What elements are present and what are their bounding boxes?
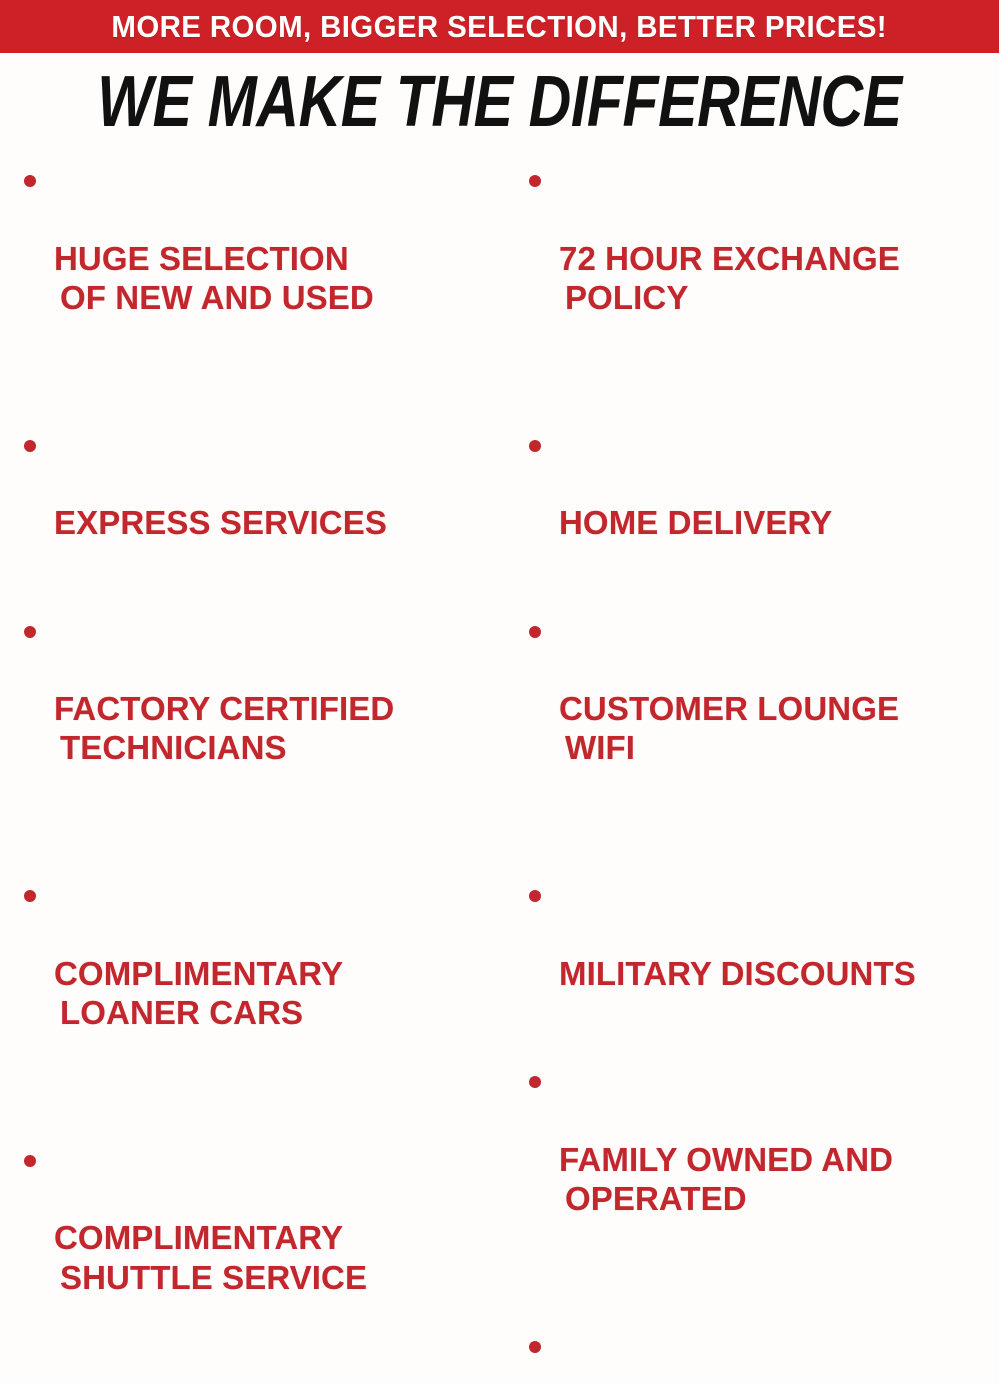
benefit-line-2: OPERATED xyxy=(559,1179,997,1218)
benefit-list-left: HUGE SELECTION OF NEW AND USED EXPRESS S… xyxy=(18,160,503,1375)
benefit-line-1: HOME DELIVERY xyxy=(559,504,832,541)
benefit-text: CUSTOMER LOUNGE WIFI xyxy=(559,650,997,807)
benefit-line-1: CUSTOMER LOUNGE xyxy=(559,690,899,727)
dealership-ad-banner: MORE ROOM, BIGGER SELECTION, BETTER PRIC… xyxy=(0,0,999,692)
benefit-line-1: COMPLIMENTARY xyxy=(54,955,343,992)
benefit-text: HOME DELIVERY xyxy=(559,464,997,543)
list-item: FAMILY OWNED AND OPERATED xyxy=(523,1061,997,1297)
benefit-text: FREE HISTORY REPORTS xyxy=(559,1365,997,1384)
benefit-text: MILITARY DISCOUNTS xyxy=(559,915,997,994)
benefit-line-2: SHUTTLE SERVICE xyxy=(54,1258,503,1297)
list-item: EXPRESS SERVICES xyxy=(18,425,503,582)
benefit-line-1: 72 HOUR EXCHANGE xyxy=(559,240,900,277)
benefit-line-2: POLICY xyxy=(559,278,997,317)
benefit-line-1: MILITARY DISCOUNTS xyxy=(559,955,916,992)
list-item: FREE HISTORY REPORTS xyxy=(523,1326,997,1384)
benefit-text: FACTORY CERTIFIED TECHNICIANS xyxy=(54,650,503,807)
benefit-line-1: FACTORY CERTIFIED xyxy=(54,690,394,727)
benefits-columns: HUGE SELECTION OF NEW AND USED EXPRESS S… xyxy=(0,160,999,692)
list-item: 72 HOUR EXCHANGE POLICY xyxy=(523,160,997,396)
benefit-line-1: COMPLIMENTARY xyxy=(54,1219,343,1256)
benefit-line-2: OF NEW AND USED xyxy=(54,278,503,317)
benefit-list-right: 72 HOUR EXCHANGE POLICY HOME DELIVERY CU… xyxy=(523,160,997,1384)
benefit-text: FAMILY OWNED AND OPERATED xyxy=(559,1101,997,1258)
list-item: COMPLIMENTARY SHUTTLE SERVICE xyxy=(18,1140,503,1376)
benefit-line-2: WIFI xyxy=(559,728,997,767)
list-item: HUGE SELECTION OF NEW AND USED xyxy=(18,160,503,396)
list-item: COMPLIMENTARY LOANER CARS xyxy=(18,875,503,1111)
promo-banner-text: MORE ROOM, BIGGER SELECTION, BETTER PRIC… xyxy=(112,11,888,42)
benefit-line-2: LOANER CARS xyxy=(54,993,503,1032)
benefit-line-2: TECHNICIANS xyxy=(54,728,503,767)
top-promo-banner: MORE ROOM, BIGGER SELECTION, BETTER PRIC… xyxy=(0,0,999,53)
list-item: FACTORY CERTIFIED TECHNICIANS xyxy=(18,611,503,847)
benefits-column-right: 72 HOUR EXCHANGE POLICY HOME DELIVERY CU… xyxy=(505,160,999,692)
list-item: MILITARY DISCOUNTS xyxy=(523,875,997,1032)
benefit-line-1: FAMILY OWNED AND xyxy=(559,1141,893,1178)
list-item: HOME DELIVERY xyxy=(523,425,997,582)
benefit-text: EXPRESS SERVICES xyxy=(54,464,503,543)
page-title: WE MAKE THE DIFFERENCE xyxy=(97,66,901,138)
benefit-line-1: HUGE SELECTION xyxy=(54,240,349,277)
benefit-text: 72 HOUR EXCHANGE POLICY xyxy=(559,199,997,356)
headline-container: WE MAKE THE DIFFERENCE xyxy=(0,62,999,142)
benefit-text: COMPLIMENTARY SHUTTLE SERVICE xyxy=(54,1179,503,1336)
benefits-column-left: HUGE SELECTION OF NEW AND USED EXPRESS S… xyxy=(0,160,505,692)
benefit-line-1: EXPRESS SERVICES xyxy=(54,504,387,541)
list-item: CUSTOMER LOUNGE WIFI xyxy=(523,611,997,847)
benefit-text: HUGE SELECTION OF NEW AND USED xyxy=(54,199,503,356)
benefit-text: COMPLIMENTARY LOANER CARS xyxy=(54,915,503,1072)
